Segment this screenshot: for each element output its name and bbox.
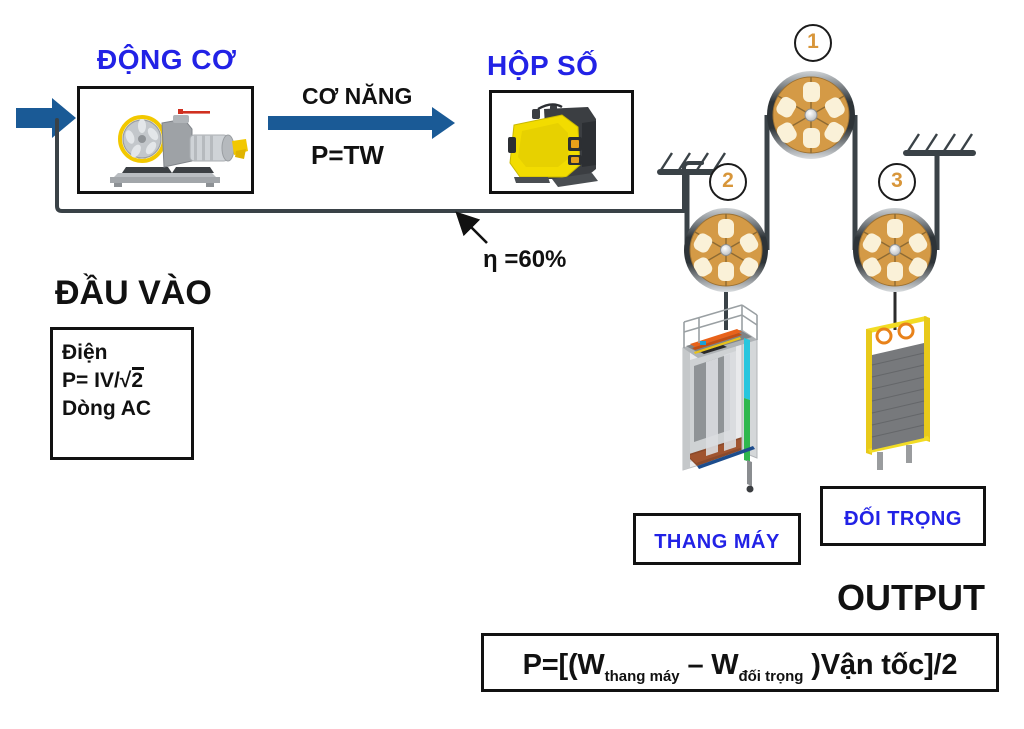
- elevator-car-illustration: [683, 305, 757, 493]
- input-line-electricity: Điện: [62, 339, 191, 366]
- counterweight-label: ĐỐI TRỌNG: [823, 489, 983, 549]
- formula-part-3: )Vận tốc]/2: [803, 649, 957, 681]
- input-title: ĐẦU VÀO: [55, 274, 212, 313]
- pulley-1: [767, 71, 855, 159]
- formula-part-1: P=[(W: [523, 649, 605, 681]
- gearbox-image-box: [489, 90, 634, 194]
- input-line-power-formula: P= IV/√2: [62, 366, 191, 394]
- input-line-ac-current: Dòng AC: [62, 395, 191, 422]
- gearbox-title: HỘP SỐ: [487, 50, 598, 82]
- pulley-3: [853, 208, 937, 292]
- elevator-label-box: THANG MÁY: [633, 513, 801, 565]
- input-details-box: Điện P= IV/√2 Dòng AC: [50, 327, 194, 460]
- elevator-label: THANG MÁY: [636, 516, 798, 568]
- formula-sub-2: đối trọng: [738, 668, 803, 685]
- output-formula-box: P=[(Wthang máy – Wđối trọng )Vận tốc]/2: [481, 633, 999, 692]
- input-arrow-icon: [16, 98, 76, 138]
- pulley-badge-1: 1: [794, 24, 832, 62]
- pulley-badge-2: 2: [709, 163, 747, 201]
- sqrt-icon: √2: [120, 366, 143, 394]
- counterweight-label-box: ĐỐI TRỌNG: [820, 486, 986, 546]
- gearbox-photo: [492, 93, 634, 194]
- motor-title: ĐỘNG CƠ: [97, 44, 236, 76]
- pulley-2: [684, 208, 768, 292]
- efficiency-pointer-arrow-icon: [459, 215, 487, 243]
- motor-photo: [80, 89, 254, 194]
- input-power-prefix: P= IV/: [62, 369, 120, 392]
- formula-part-2: – W: [680, 649, 739, 681]
- mechanical-energy-formula: P=TW: [311, 140, 384, 171]
- output-title: OUTPUT: [837, 577, 985, 619]
- mechanical-energy-label: CƠ NĂNG: [302, 83, 412, 110]
- mechanical-energy-arrow-icon: [268, 107, 455, 139]
- pulley-badge-3: 3: [878, 163, 916, 201]
- efficiency-label: η =60%: [483, 246, 566, 274]
- formula-sub-1: thang máy: [605, 668, 680, 685]
- counterweight-illustration: [866, 316, 930, 470]
- motor-image-box: [77, 86, 254, 194]
- output-formula: P=[(Wthang máy – Wđối trọng )Vận tốc]/2: [484, 636, 996, 706]
